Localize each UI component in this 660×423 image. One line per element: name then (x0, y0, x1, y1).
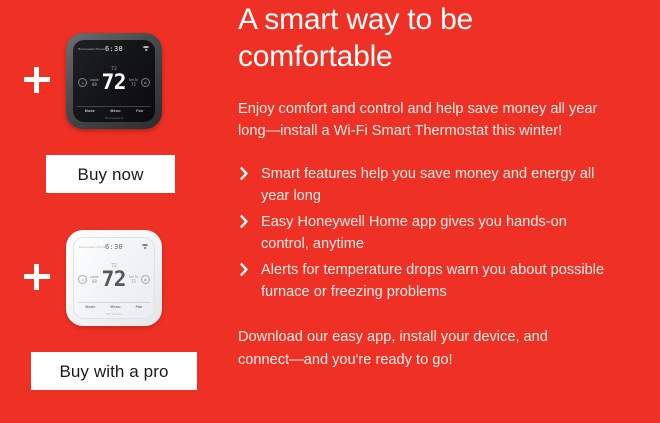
product-column: Honeywell Home 6:30 72 Inside 68 72 (0, 0, 228, 423)
thermostat-increase-icon[interactable] (141, 275, 150, 284)
thermostat-setpoint-small: 72 (111, 67, 117, 72)
thermostat-inside-label: Inside 68 (90, 275, 99, 284)
thermostat-setto-label: Set To 72 (129, 78, 138, 87)
thermostat-status-bar: Honeywell Home 6:30 (79, 242, 149, 251)
list-item: Easy Honeywell Home app gives you hands-… (238, 212, 618, 256)
thermostat-menu-button[interactable]: Menu (111, 305, 121, 309)
buy-with-a-pro-button[interactable]: Buy with a pro (31, 352, 197, 390)
thermostat-mode-button[interactable]: Mode (85, 305, 95, 309)
chevron-right-icon (240, 167, 249, 180)
page-title: A smart way to be comfortable (238, 0, 568, 76)
thermostat-readout: 72 Inside 68 72 Set To 72 (74, 255, 154, 298)
thermostat-time: 6:30 (78, 45, 150, 53)
list-item: Alerts for temperature drops warn you ab… (238, 260, 618, 304)
thermostat-increase-icon[interactable] (141, 78, 150, 87)
thermostat-temperature: 72 (102, 73, 126, 92)
thermostat-footer-brand: T6 series (74, 312, 154, 316)
outro-paragraph: Download our easy app, install your devi… (238, 326, 600, 370)
chevron-right-icon (240, 215, 249, 228)
thermostat-setpoint-small: 72 (111, 264, 117, 269)
plus-icon (24, 264, 50, 290)
thermostat-mode-button[interactable]: Mode (85, 109, 95, 113)
list-item-label: Alerts for temperature drops warn you ab… (261, 262, 604, 300)
thermostat-footer-brand: Honeywell (73, 116, 155, 120)
chevron-right-icon (240, 263, 249, 276)
buy-now-button[interactable]: Buy now (46, 155, 175, 193)
thermostat-device-white: Honeywell Home 6:30 72 Inside 68 72 (66, 230, 162, 326)
thermostat-screen: Honeywell Home 6:30 72 Inside 68 72 (73, 237, 155, 319)
list-item-label: Smart features help you save money and e… (261, 166, 594, 204)
thermostat-menu-button[interactable]: Menu (110, 109, 120, 113)
thermostat-status-bar: Honeywell Home 6:30 (78, 44, 150, 53)
plus-icon (24, 67, 50, 93)
intro-paragraph: Enjoy comfort and control and help save … (238, 98, 600, 142)
feature-list: Smart features help you save money and e… (238, 164, 618, 303)
thermostat-screen: Honeywell Home 6:30 72 Inside 68 72 (73, 40, 155, 122)
list-item: Smart features help you save money and e… (238, 164, 618, 208)
thermostat-readout: 72 Inside 68 72 Set To 72 (73, 57, 155, 102)
thermostat-button-bar: Mode Menu Fan (78, 302, 150, 309)
wifi-icon (141, 244, 149, 250)
thermostat-decrease-icon[interactable] (78, 78, 87, 87)
thermostat-setto-label: Set To 72 (129, 275, 138, 284)
thermostat-decrease-icon[interactable] (78, 275, 87, 284)
wifi-icon (142, 46, 150, 52)
thermostat-button-bar: Mode Menu Fan (77, 106, 151, 113)
thermostat-inside-label: Inside 68 (90, 78, 99, 87)
list-item-label: Easy Honeywell Home app gives you hands-… (261, 214, 567, 252)
thermostat-fan-button[interactable]: Fan (136, 305, 143, 309)
thermostat-fan-button[interactable]: Fan (136, 109, 143, 113)
copy-column: A smart way to be comfortable Enjoy comf… (238, 0, 650, 423)
thermostat-time: 6:30 (79, 243, 149, 251)
thermostat-device-dark: Honeywell Home 6:30 72 Inside 68 72 (66, 33, 162, 129)
promo-banner: Honeywell Home 6:30 72 Inside 68 72 (0, 0, 660, 423)
thermostat-temperature: 72 (102, 270, 126, 289)
